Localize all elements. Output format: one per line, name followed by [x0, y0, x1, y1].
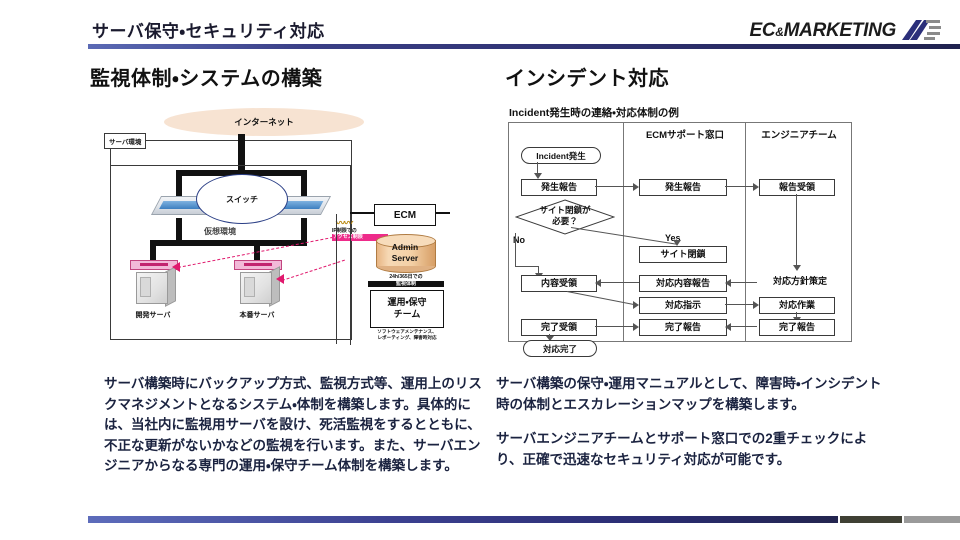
- server-bus: [150, 240, 307, 246]
- switch-ellipse: スイッチ: [196, 174, 288, 224]
- link-bus-to-dev: [150, 240, 156, 262]
- link-switch-left-down: [176, 218, 182, 240]
- node-response-report: 対応内容報告: [639, 275, 727, 292]
- ecm-box: ECM: [374, 204, 436, 226]
- flow-r2-c-to-b-arrow: [725, 279, 731, 287]
- flow-yes-diagonal: [571, 227, 678, 245]
- server-dev: 開発サーバ: [130, 260, 176, 308]
- flowchart-column-divider-2: [745, 123, 746, 341]
- flow-r1-a-to-b-arrow: [633, 183, 639, 191]
- monitor-link-to-prod-arrow: [276, 274, 284, 284]
- internet-label: インターネット: [234, 116, 294, 128]
- brand-logo-amp: &: [775, 25, 783, 39]
- decision-text: サイト閉鎖が 必要？: [515, 205, 615, 228]
- ops-maintenance-team-box: 運用・保守 チーム: [370, 290, 444, 328]
- node-decision-site-closure: サイト閉鎖が 必要？: [515, 199, 615, 235]
- flowchart-frame: ECMサポート窓口 エンジニアチーム Incident発生 発生報告 発生報告 …: [508, 122, 852, 342]
- flow-r2-b-to-a: [601, 282, 639, 283]
- page-title: サーバ保守・セキュリティ対応: [92, 17, 325, 42]
- node-incident-start: Incident発生: [521, 147, 601, 164]
- body-text-left: サーバ構築時にバックアップ方式、監視方式等、運用上のリスクマネジメントとなるシス…: [104, 374, 482, 477]
- flow-r4-a-to-b-arrow: [633, 323, 639, 331]
- server-prod: 本番サーバ: [234, 260, 280, 308]
- brand-logo-ec: EC: [749, 20, 775, 41]
- admin-server-label: Admin Server: [376, 242, 434, 263]
- ecm-box-label: ECM: [394, 210, 416, 221]
- admin-server-label-line1: Admin: [376, 242, 434, 253]
- ip-rail-vertical: [336, 214, 337, 344]
- node-completion-received: 完了受領: [521, 319, 597, 336]
- monitor-link-to-dev-arrow: [172, 262, 180, 272]
- decision-line1: サイト閉鎖が: [515, 205, 615, 216]
- switch-label: スイッチ: [226, 194, 258, 205]
- env-top-rail: [110, 165, 350, 166]
- admin-server-label-line2: Server: [376, 253, 434, 264]
- footer-bar: [88, 516, 960, 523]
- node-report-received: 報告受領: [759, 179, 835, 196]
- internet-cloud: インターネット: [164, 108, 364, 136]
- slide-root: サーバ保守・セキュリティ対応 EC&MARKETING 監視体制・システムの構築…: [0, 0, 960, 540]
- admin-server-note: 24h/365日での 監視体制: [368, 274, 444, 287]
- server-dev-caption: 開発サーバ: [123, 310, 183, 320]
- ops-team-line2: チーム: [394, 309, 421, 321]
- flow-r1-a-to-b: [595, 186, 635, 187]
- node-content-received: 内容受領: [521, 275, 597, 292]
- node-completion-report-b: 完了報告: [759, 319, 835, 336]
- flowchart-title: Incident発生時の連絡・対応体制の例: [509, 105, 679, 120]
- admin-server-cylinder: Admin Server: [376, 234, 434, 270]
- link-switch-right-down: [301, 218, 307, 240]
- ops-team-line1: 運用・保守: [387, 297, 426, 309]
- footer-bar-accent: [88, 516, 838, 523]
- flowchart-column-header-ecm: ECMサポート窓口: [627, 130, 743, 142]
- admin-server-note-line2: 監視体制: [368, 281, 444, 288]
- flow-engineer-down: [796, 194, 797, 267]
- brand-logo-text: EC&MARKETING: [749, 20, 896, 42]
- flowchart-column-divider-1: [623, 123, 624, 341]
- node-response-complete: 対応完了: [523, 340, 597, 357]
- node-policy-decision: 対応方針策定: [757, 273, 843, 290]
- flow-a-to-instruction: [567, 291, 636, 305]
- flow-instruction-to-work-arrow: [753, 301, 759, 309]
- brand-logo-marketing: MARKETING: [784, 20, 896, 41]
- server-dev-body: [136, 272, 168, 304]
- flow-instruction-to-work: [725, 304, 753, 305]
- server-environment-label: サーバ環境: [104, 133, 146, 149]
- body-right-paragraph-1: サーバ構築の保守・運用マニュアルとして、障害時・インシデント時の体制とエスカレー…: [496, 374, 888, 415]
- node-site-close: サイト閉鎖: [639, 246, 727, 263]
- link-rail-to-ecm: [350, 212, 376, 214]
- link-ecm-right: [434, 212, 450, 214]
- section-heading-right: インシデント対応: [505, 62, 669, 91]
- node-report-occurrence-b: 発生報告: [639, 179, 727, 196]
- flow-no-right: [515, 266, 539, 267]
- node-response-work: 対応作業: [759, 297, 835, 314]
- server-prod-caption: 本番サーバ: [227, 310, 287, 320]
- brand-logo: EC&MARKETING: [749, 18, 942, 44]
- footer-bar-dark: [840, 516, 902, 523]
- monitoring-architecture-diagram: サーバ環境 インターネット スイッチ 仮想環境 開発サーバ: [104, 108, 450, 346]
- decision-line2: 必要？: [515, 216, 615, 227]
- ecm-rail-vertical: [350, 165, 351, 345]
- virtual-environment-label: 仮想環境: [204, 226, 236, 237]
- footer-bar-gray: [904, 516, 960, 523]
- node-report-occurrence-a: 発生報告: [521, 179, 597, 196]
- flow-r1-b-to-c-arrow: [753, 183, 759, 191]
- header-rule: [88, 44, 960, 49]
- flow-r4-c-to-b-arrow: [725, 323, 731, 331]
- flow-engineer-down-arrow: [793, 265, 801, 271]
- ops-team-note: ソフトウェアメンテナンス、 レポーティング、障害時対応: [362, 329, 452, 341]
- flow-r1-b-to-c: [725, 186, 753, 187]
- flow-r2-c-to-b: [731, 282, 757, 283]
- server-dev-rack-stripe: [140, 263, 168, 266]
- flowchart-column-header-engineer: エンジニアチーム: [749, 130, 849, 142]
- node-completion-report-a: 完了報告: [639, 319, 727, 336]
- body-text-right: サーバ構築の保守・運用マニュアルとして、障害時・インシデント時の体制とエスカレー…: [496, 374, 888, 484]
- section-heading-left: 監視体制・システムの構築: [90, 62, 322, 91]
- flow-r2-b-to-a-arrow: [595, 279, 601, 287]
- flow-r4-c-to-b: [731, 326, 757, 327]
- flow-no-down: [515, 233, 516, 267]
- ops-team-note-line2: レポーティング、障害時対応: [362, 335, 452, 341]
- brand-swoosh-icon: [900, 18, 942, 44]
- server-prod-body: [240, 272, 272, 304]
- body-left-paragraph: サーバ構築時にバックアップ方式、監視方式等、運用上のリスクマネジメントとなるシス…: [104, 374, 482, 477]
- node-response-instruction: 対応指示: [639, 297, 727, 314]
- flow-r4-a-to-b: [595, 326, 635, 327]
- flow-a-to-instruction-arrow: [633, 301, 639, 309]
- server-prod-rack-stripe: [244, 263, 272, 266]
- body-right-paragraph-2: サーバエンジニアチームとサポート窓口での2重チェックにより、正確で迅速なセキュリ…: [496, 429, 888, 470]
